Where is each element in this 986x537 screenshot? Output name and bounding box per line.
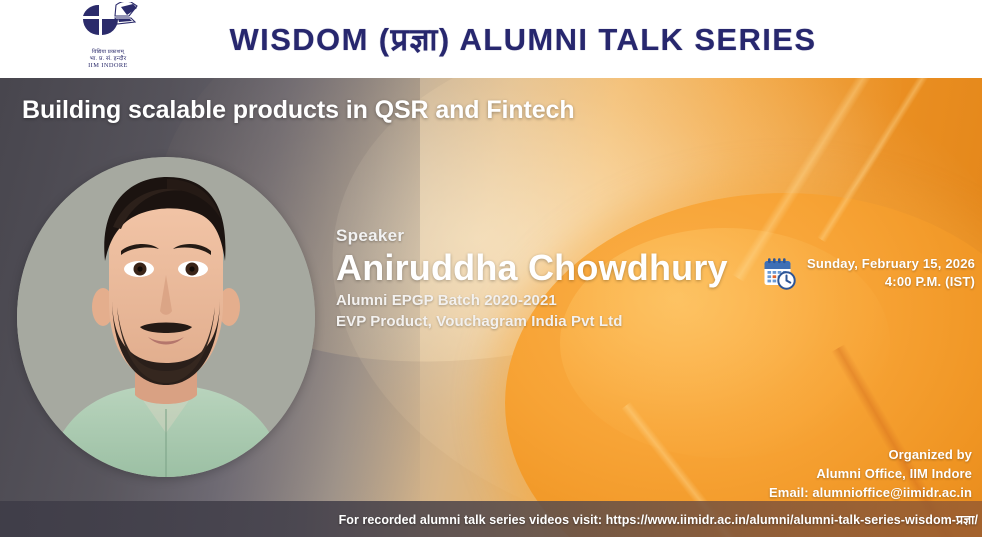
organized-by-label: Organized by: [769, 446, 972, 465]
recorded-videos-link[interactable]: For recorded alumni talk series videos v…: [339, 511, 978, 528]
speaker-batch: Alumni EPGP Batch 2020-2021: [336, 291, 728, 312]
organizer-block: Organized by Alumni Office, IIM Indore E…: [769, 446, 972, 503]
schedule-block: Sunday, February 15, 2026 4:00 P.M. (IST…: [762, 255, 975, 292]
speaker-label: Speaker: [336, 226, 728, 246]
speaker-name: Aniruddha Chowdhury: [336, 249, 728, 287]
speaker-designation: EVP Product, Vouchagram India Pvt Ltd: [336, 312, 728, 333]
speaker-portrait: [17, 157, 315, 477]
schedule-text: Sunday, February 15, 2026 4:00 P.M. (IST…: [807, 255, 975, 292]
right-edge-border: [982, 0, 986, 537]
organizer-name: Alumni Office, IIM Indore: [769, 465, 972, 484]
footer-bar: For recorded alumni talk series videos v…: [0, 501, 986, 537]
calendar-clock-icon: [762, 256, 796, 290]
speaker-block: Speaker Aniruddha Chowdhury Alumni EPGP …: [336, 226, 728, 333]
speaker-photo: [17, 157, 315, 477]
alumni-talk-series-poster: विद्यिया प्रकाशम् भा. प्र. सं. इन्दौर II…: [0, 0, 986, 537]
event-time: 4:00 P.M. (IST): [807, 273, 975, 291]
talk-topic: Building scalable products in QSR and Fi…: [22, 96, 575, 125]
poster-body: Building scalable products in QSR and Fi…: [0, 78, 986, 537]
page-title: WISDOM (प्रज्ञा) ALUMNI TALK SERIES: [0, 0, 986, 78]
header-band: विद्यिया प्रकाशम् भा. प्र. सं. इन्दौर II…: [0, 0, 986, 78]
event-date: Sunday, February 15, 2026: [807, 255, 975, 273]
